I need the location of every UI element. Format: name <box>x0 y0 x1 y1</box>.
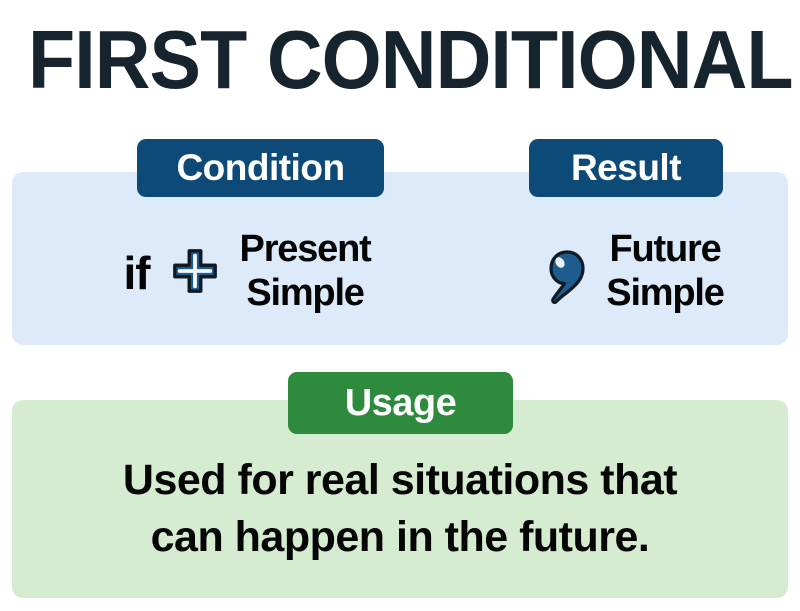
result-formula-group: Future Simple <box>482 227 788 315</box>
if-keyword: if <box>123 250 149 296</box>
page-title: FIRST CONDITIONAL <box>28 14 772 106</box>
result-tense: Future Simple <box>606 227 723 315</box>
condition-formula-group: if Present Simple <box>12 227 482 315</box>
formula-row: if Present Simple Future Simple <box>12 197 788 345</box>
condition-tense-line-2: Simple <box>240 271 371 315</box>
condition-tense: Present Simple <box>240 227 371 315</box>
usage-description-line-1: Used for real situations that <box>12 452 788 509</box>
infographic-root: FIRST CONDITIONAL if Present Simple Futu… <box>0 0 800 611</box>
result-badge: Result <box>529 139 723 197</box>
result-tense-line-2: Simple <box>606 271 723 315</box>
condition-badge: Condition <box>137 139 384 197</box>
result-tense-line-1: Future <box>606 227 723 271</box>
condition-tense-line-1: Present <box>240 227 371 271</box>
comma-icon <box>546 248 588 306</box>
usage-description: Used for real situations that can happen… <box>12 452 788 566</box>
usage-description-line-2: can happen in the future. <box>12 509 788 566</box>
plus-icon <box>172 248 218 294</box>
usage-badge: Usage <box>288 372 513 434</box>
